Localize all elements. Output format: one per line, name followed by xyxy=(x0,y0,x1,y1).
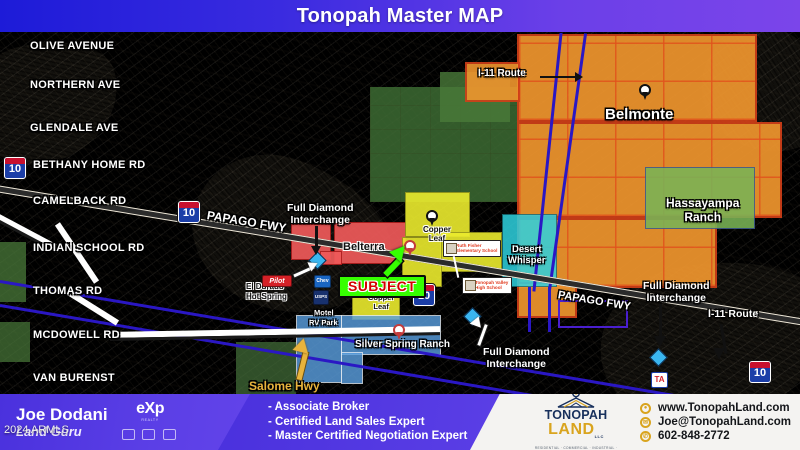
interstate-shield-10-west[interactable]: 10 xyxy=(4,157,26,179)
callout-i11-route-east: I-11 Route xyxy=(708,308,758,320)
agent-tagline: Land Guru xyxy=(16,424,108,439)
school-label-ruth-fisher-elementary: Ruth FisherElementary School xyxy=(443,240,501,257)
contact-website: www.TonopahLand.com xyxy=(658,402,790,414)
place-label-hassayampa-ranch: HassayampaRanch xyxy=(666,196,739,224)
place-label-belmonte: Belmonte xyxy=(605,106,673,123)
street-label-northern-ave: NORTHERN AVE xyxy=(30,79,120,91)
callout-full-diamond-interchange-west: Full DiamondInterchange xyxy=(287,202,354,226)
shield-number: 10 xyxy=(179,205,199,222)
place-label-motel: Motel xyxy=(314,308,334,317)
street-label-mcdowell-rd: MCDOWELL RD xyxy=(33,329,120,341)
callout-arrow-fdi-west-shaft xyxy=(315,226,318,248)
contact-phone: 602-848-2772 xyxy=(658,430,730,442)
callout-arrow-fdi-center-shaft xyxy=(477,324,487,346)
i11-route-line-c xyxy=(528,287,531,332)
place-label-rv-park: RV Park xyxy=(309,318,338,327)
page-header: Tonopah Master MAP xyxy=(0,0,800,32)
equal-housing-badge-a xyxy=(122,429,135,440)
callout-i11-route-north: I-11 Route xyxy=(478,68,526,80)
farm-fields-far-west xyxy=(0,322,30,362)
callout-arrow-i11-north-head xyxy=(575,72,583,82)
street-label-camelback-rd: CAMELBACK RD xyxy=(33,195,126,207)
contact-email: Joe@TonopahLand.com xyxy=(658,416,791,428)
farm-fields-west-edge xyxy=(0,242,26,302)
place-label-silver-spring-ranch: Silver Spring Ranch xyxy=(355,339,450,350)
street-label-thomas-rd: THOMAS RD xyxy=(33,285,102,297)
exp-realty-sub: REALTY xyxy=(122,418,179,422)
realtor-badges xyxy=(122,427,179,445)
brokerage-block: eXp REALTY xyxy=(122,400,179,445)
equal-housing-badge-b xyxy=(163,429,176,440)
map-pin-copper-leaf-north[interactable] xyxy=(426,210,438,226)
map-pin-belmonte[interactable] xyxy=(639,84,651,100)
place-label-belterra: Belterra xyxy=(343,241,385,253)
school-label-tonopah-valley-high: Tonopah ValleyHigh School xyxy=(462,277,512,294)
street-label-glendale-ave: GLENDALE AVE xyxy=(30,122,119,134)
agent-identity: Joe Dodani Land Guru xyxy=(16,406,108,439)
logo-land-suffix: LLC xyxy=(595,434,604,439)
contact-panel: TONOPAH LANDLLC RESIDENTIAL · COMMERCIAL… xyxy=(470,394,800,450)
phone-icon: ✆ xyxy=(640,431,651,442)
page-title: Tonopah Master MAP xyxy=(297,5,504,28)
shield-number: 10 xyxy=(5,161,25,178)
callout-arrow-i11-east-head xyxy=(713,348,725,359)
street-label-olive-avenue: OLIVE AVENUE xyxy=(30,40,114,52)
contact-row-phone[interactable]: ✆ 602-848-2772 xyxy=(640,430,791,442)
logo-tagline: RESIDENTIAL · COMMERCIAL · INDUSTRIAL · … xyxy=(528,446,624,450)
mail-icon: ✉ xyxy=(640,417,651,428)
subject-property-callout[interactable]: SUBJECT xyxy=(338,275,426,298)
tonopah-land-logo[interactable]: TONOPAH LANDLLC RESIDENTIAL · COMMERCIAL… xyxy=(528,390,624,450)
ta-travel-center-icon[interactable]: TA xyxy=(651,372,668,388)
interchange-diamond-east[interactable] xyxy=(649,348,667,366)
mls-badge xyxy=(142,429,155,440)
pilot-travel-center-icon[interactable]: Pilot xyxy=(262,275,292,287)
callout-arrow-fdi-east-shaft xyxy=(659,304,662,340)
credential-item: - Master Certified Negotiation Expert xyxy=(268,429,467,444)
usps-post-office-icon[interactable]: USPS xyxy=(313,290,329,305)
screenshot-root: Tonopah Master MAP xyxy=(0,0,800,450)
map-canvas[interactable]: OLIVE AVENUE NORTHERN AVE GLENDALE AVE B… xyxy=(0,32,800,450)
callout-full-diamond-interchange-east-text: Full DiamondInterchange xyxy=(643,280,710,304)
logo-text-land: LANDLLC xyxy=(528,422,624,445)
callout-arrow-fdi-east-head xyxy=(654,336,666,347)
callout-arrow-i11-north-shaft xyxy=(540,76,578,78)
page-footer: Joe Dodani Land Guru eXp REALTY - Associ… xyxy=(0,394,800,450)
callout-arrow-fdi-west-head xyxy=(311,246,321,255)
shield-number: 10 xyxy=(750,365,770,382)
map-pin-silver-spring-ranch[interactable] xyxy=(393,324,405,340)
credentials-list: - Associate Broker - Certified Land Sale… xyxy=(268,400,467,444)
place-label-desert-whisper: DesertWhisper xyxy=(508,244,545,266)
callout-salome-highway: Salome Hwy xyxy=(249,379,320,393)
credential-item: - Certified Land Sales Expert xyxy=(268,415,467,430)
agent-panel: Joe Dodani Land Guru eXp REALTY xyxy=(0,394,260,450)
exp-realty-logo: eXp xyxy=(122,400,179,418)
callout-full-diamond-interchange-center: Full DiamondInterchange xyxy=(483,346,550,370)
contact-row-email[interactable]: ✉ Joe@TonopahLand.com xyxy=(640,416,791,428)
street-label-bethany-home-rd: BETHANY HOME RD xyxy=(33,159,145,171)
contact-row-website[interactable]: ● www.TonopahLand.com xyxy=(640,402,791,414)
street-label-indian-school-rd: INDIAN SCHOOL RD xyxy=(33,242,145,254)
credential-item: - Associate Broker xyxy=(268,400,467,415)
i11-route-line-d xyxy=(548,287,551,332)
contact-list: ● www.TonopahLand.com ✉ Joe@TonopahLand.… xyxy=(640,400,791,444)
street-label-van-burenst: VAN BURENST xyxy=(33,372,115,384)
interstate-shield-10-east[interactable]: 10 xyxy=(749,361,771,383)
agent-name: Joe Dodani xyxy=(16,406,108,424)
logo-land-word: LAND xyxy=(548,421,594,438)
credentials-panel: - Associate Broker - Certified Land Sale… xyxy=(218,394,508,450)
chevron-station-icon[interactable]: Chev xyxy=(314,275,331,288)
globe-icon: ● xyxy=(640,403,651,414)
interstate-shield-10-center[interactable]: 10 xyxy=(178,201,200,223)
